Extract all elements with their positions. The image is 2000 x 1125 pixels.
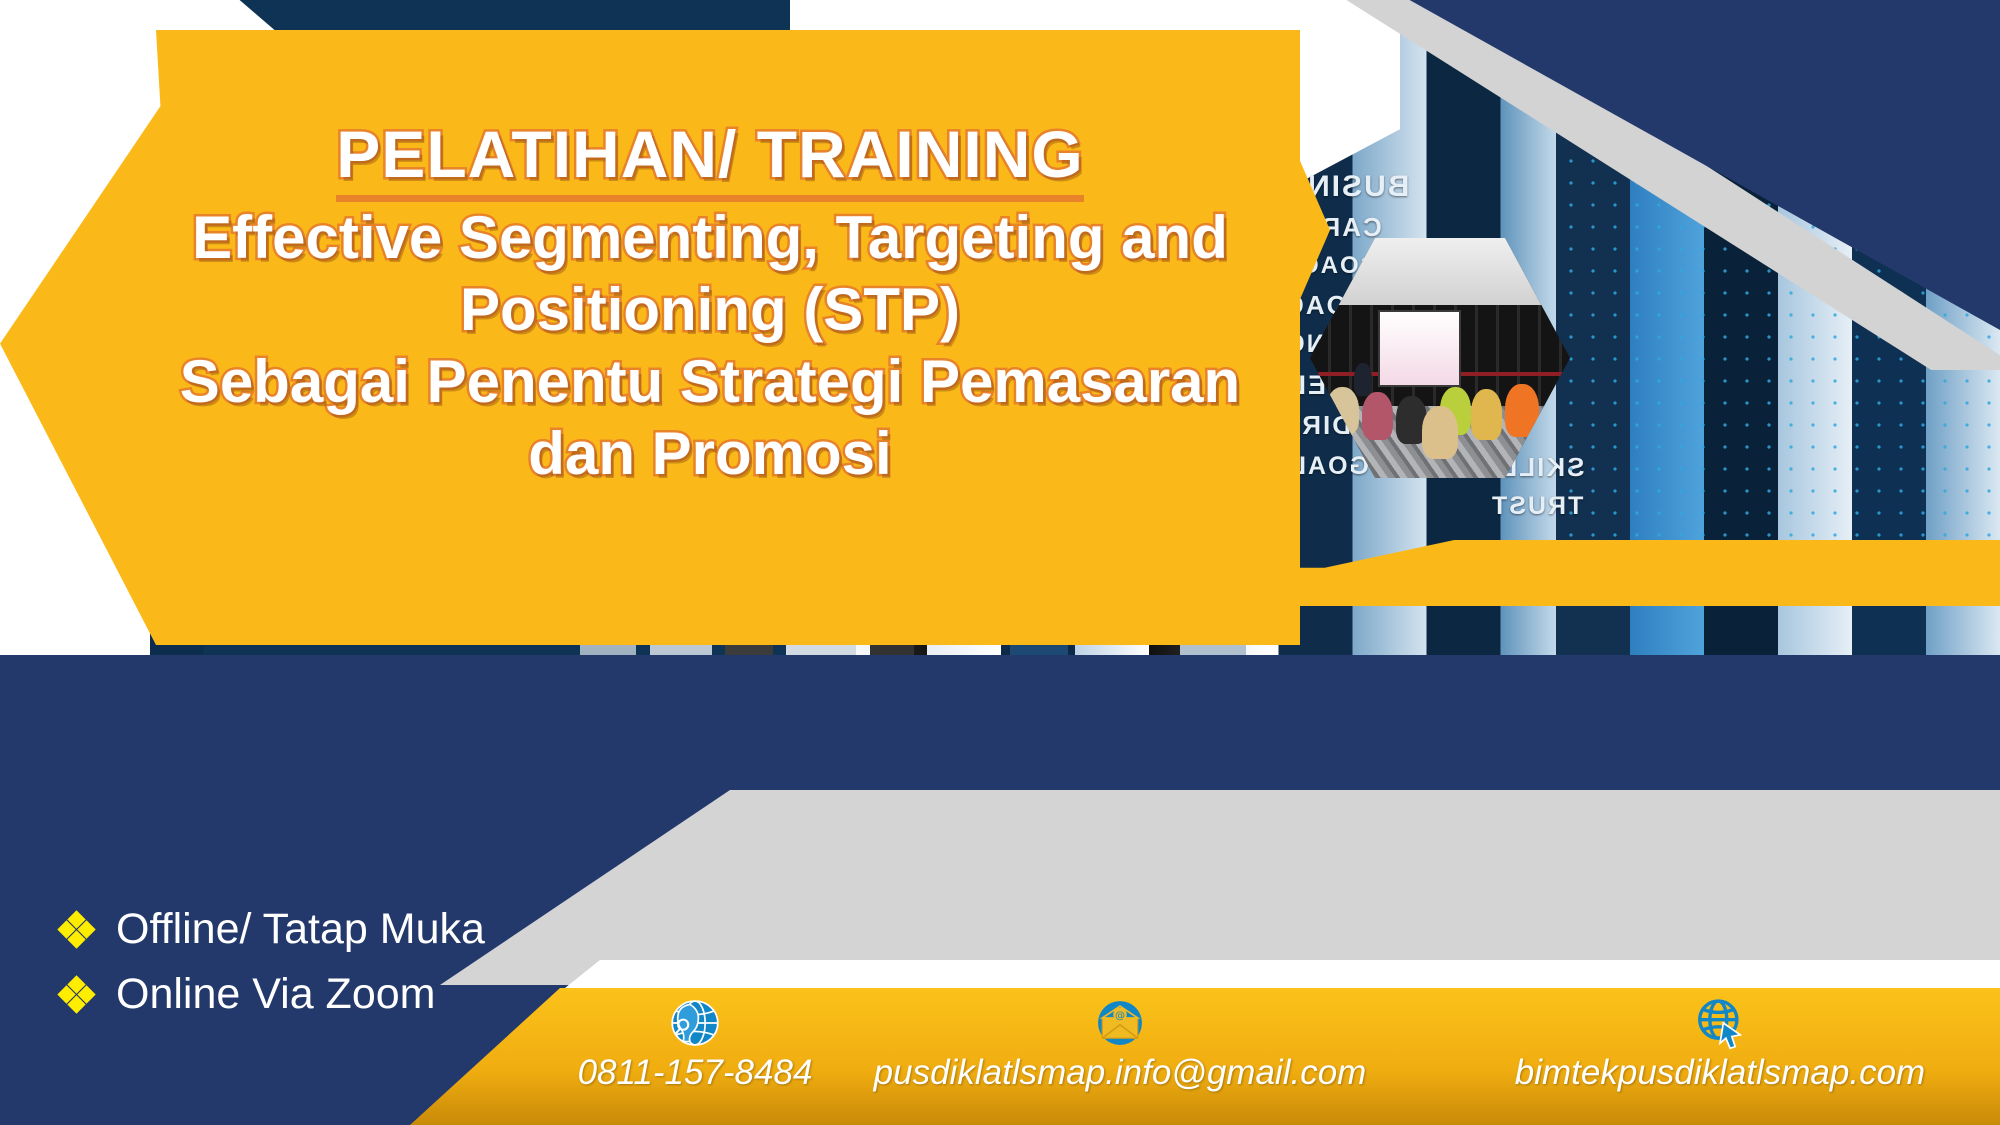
- phone-globe-icon: [560, 995, 830, 1051]
- title-line-3: Sebagai Penentu Strategi Pemasaran: [150, 346, 1270, 418]
- email-envelope-icon: @: [800, 995, 1440, 1051]
- photo-attendee: [1422, 406, 1458, 459]
- photo-attendee: [1362, 392, 1393, 440]
- photo-projector-screen: [1378, 310, 1461, 387]
- page-title-kicker: PELATIHAN/ TRAINING: [336, 120, 1083, 202]
- photo-presenter: [1354, 363, 1372, 397]
- title-line-4: dan Promosi: [150, 418, 1270, 490]
- mode-label-offline: Offline/ Tatap Muka: [116, 905, 485, 954]
- website-globe-icon: [1440, 995, 2000, 1051]
- list-item: Offline/ Tatap Muka: [60, 905, 485, 954]
- email-address: pusdiklatlsmap.info@gmail.com: [800, 1053, 1440, 1093]
- title-line-2: Positioning (STP): [150, 274, 1270, 346]
- contact-email[interactable]: @ pusdiklatlsmap.info@gmail.com: [800, 995, 1440, 1093]
- website-url: bimtekpusdiklatlsmap.com: [1440, 1053, 2000, 1093]
- title-line-1: Effective Segmenting, Targeting and: [150, 202, 1270, 274]
- frame-accent-rule: [232, 74, 1252, 81]
- poster-canvas: BUSINESS CAREER COACH COACHING CONCEPT D…: [0, 0, 2000, 1125]
- photo-attendee: [1471, 389, 1502, 439]
- svg-text:@: @: [1115, 1010, 1125, 1021]
- phone-number: 0811-157-8484: [560, 1053, 830, 1093]
- contact-website[interactable]: bimtekpusdiklatlsmap.com: [1440, 995, 2000, 1093]
- contact-info-row: 0811-157-8484 @ pusdiklatlsmap.info@gmai…: [0, 995, 2000, 1125]
- diamond-bullet-icon: [60, 913, 94, 947]
- contact-phone[interactable]: 0811-157-8484: [560, 995, 830, 1093]
- headline-block: PELATIHAN/ TRAINING Effective Segmenting…: [150, 120, 1270, 490]
